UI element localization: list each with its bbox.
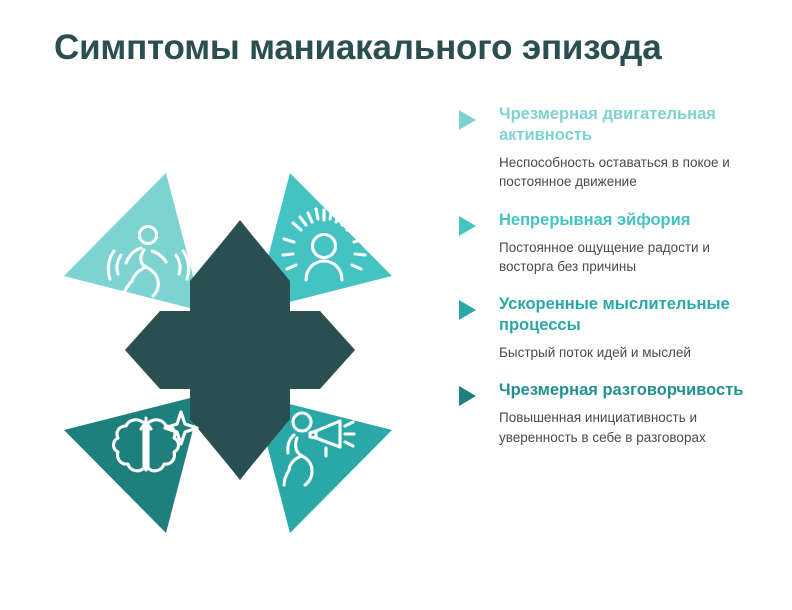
symptom-title: Непрерывная эйфория [499,210,759,231]
wedge-top-left [64,173,202,311]
symptom-item-1[interactable]: Чрезмерная двигательная активность Неспо… [459,104,759,196]
symptom-item-3[interactable]: Ускоренные мыслительные процессы Быстрый… [459,294,759,366]
triangle-right-icon [459,300,476,320]
symptom-description: Неспособность оставаться в покое и посто… [499,153,759,195]
symptom-list: Чрезмерная двигательная активность Неспо… [459,104,759,451]
symptom-description: Повышенная инициативность и уверенность … [499,408,759,450]
central-illustration [40,150,440,570]
symptom-title: Чрезмерная двигательная активность [499,104,759,146]
symptom-description: Быстрый поток идей и мыслей [499,343,759,366]
triangle-right-icon [459,110,476,130]
symptom-description: Постоянное ощущение радости и восторга б… [499,238,759,280]
symptom-title: Ускоренные мыслительные процессы [499,294,759,336]
triangle-right-icon [459,216,476,236]
triangle-right-icon [459,386,476,406]
page-title: Симптомы маниакального эпизода [54,28,774,68]
symptom-item-2[interactable]: Непрерывная эйфория Постоянное ощущение … [459,210,759,280]
infographic-slide: Симптомы маниакального эпизода [0,0,792,610]
symptom-item-4[interactable]: Чрезмерная разговорчивость Повышенная ин… [459,380,759,450]
symptom-title: Чрезмерная разговорчивость [499,380,759,401]
